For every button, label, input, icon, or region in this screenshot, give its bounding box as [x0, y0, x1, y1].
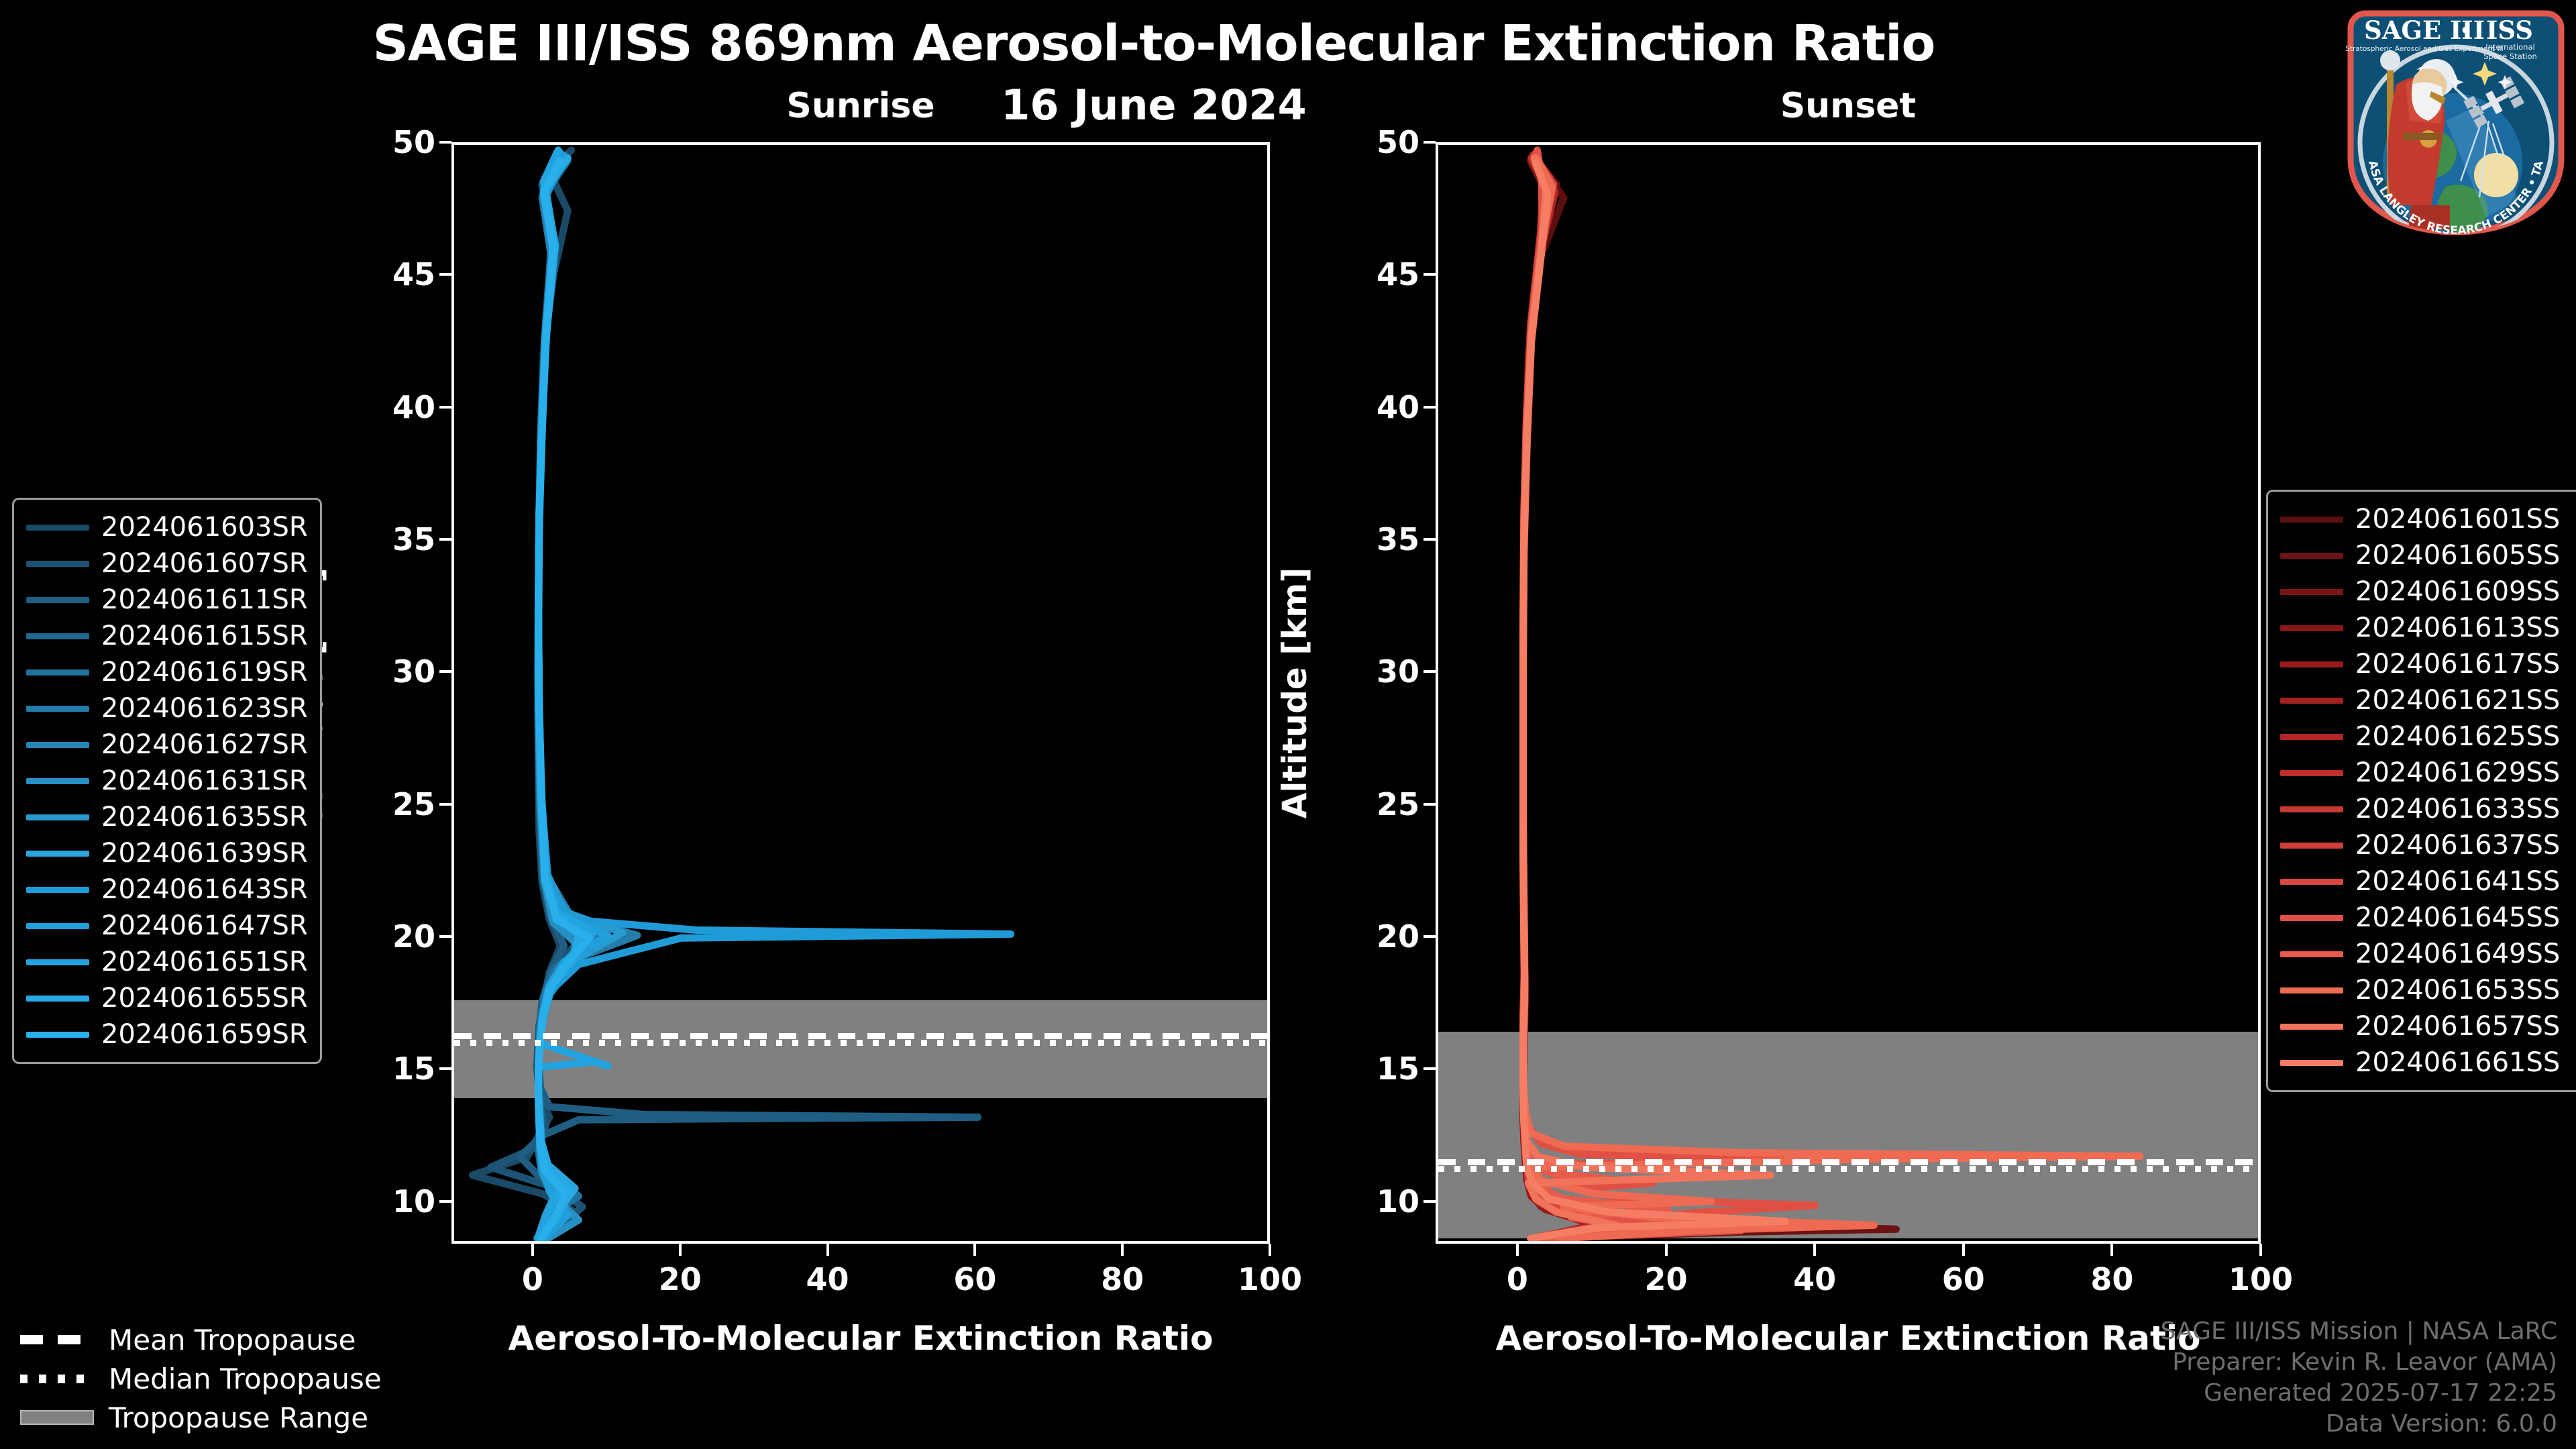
legend-event-label: 2024061645SS [2355, 902, 2560, 933]
legend-color-swatch [2280, 589, 2343, 595]
y-axis-tick-label: 45 [392, 256, 435, 292]
legend-event-label: 2024061651SR [101, 947, 308, 977]
legend-color-swatch [26, 633, 89, 639]
sunset-event-legend-item[interactable]: 2024061657SS [2280, 1008, 2575, 1044]
median-tropopause-dotted-line [20, 1371, 94, 1386]
series-line [1523, 163, 1631, 1238]
y-axis-tick-mark [1424, 670, 1436, 673]
legend-color-swatch [2280, 517, 2343, 523]
tropopause-range-band-swatch [20, 1410, 94, 1425]
sunrise-event-legend-item[interactable]: 2024061615SR [26, 618, 308, 654]
credits-line: SAGE III/ISS Mission | NASA LaRC [2161, 1316, 2557, 1347]
sunset-event-legend-item[interactable]: 2024061621SS [2280, 682, 2575, 718]
series-line [1523, 158, 2140, 1239]
credits-line: Preparer: Kevin R. Leavor (AMA) [2161, 1347, 2557, 1378]
x-axis-tick-label: 100 [1238, 1261, 1302, 1297]
sunset-y-axis-label: Altitude [km] [1275, 568, 1314, 819]
median-tropopause-line [1438, 1166, 2258, 1172]
sunset-event-legend[interactable]: 2024061601SS2024061605SS2024061609SS2024… [2266, 490, 2576, 1092]
y-axis-tick-label: 30 [1377, 653, 1419, 690]
legend-color-swatch [26, 814, 89, 820]
legend-color-swatch [26, 996, 89, 1002]
series-line [1523, 158, 1815, 1239]
legend-color-swatch [2280, 553, 2343, 559]
legend-event-label: 2024061601SS [2355, 504, 2560, 535]
y-axis-tick-mark [439, 1067, 451, 1070]
sage-iii-iss-mission-patch-logo: SAGE III • ISS Stratospheric Aerosol and… [2345, 5, 2567, 237]
y-axis-tick-mark [439, 273, 451, 276]
legend-color-swatch [26, 959, 89, 965]
mean-tropopause-dashed-line-swatch [20, 1335, 94, 1344]
series-line [1523, 161, 1727, 1239]
y-axis-tick-label: 30 [392, 653, 435, 690]
legend-color-swatch [2280, 843, 2343, 849]
y-axis-tick-label: 35 [392, 521, 435, 557]
legend-event-label: 2024061637SS [2355, 830, 2560, 861]
legend-event-label: 2024061627SR [101, 729, 308, 760]
legend-event-label: 2024061655SR [101, 983, 308, 1014]
legend-color-swatch [2280, 661, 2343, 667]
y-axis-tick-label: 15 [1377, 1051, 1419, 1087]
legend-color-swatch [2280, 951, 2343, 957]
y-axis-tick-mark [439, 538, 451, 541]
y-axis-tick-mark [1424, 1067, 1436, 1070]
sunrise-event-legend-item[interactable]: 2024061627SR [26, 727, 308, 763]
legend-event-label: 2024061603SR [101, 512, 308, 543]
legend-color-swatch [26, 1032, 89, 1038]
median-tropopause-line [454, 1040, 1267, 1046]
legend-event-label: 2024061639SR [101, 838, 308, 869]
legend-color-swatch [2280, 1024, 2343, 1030]
x-axis-tick-mark [826, 1244, 829, 1256]
x-axis-tick-label: 40 [1793, 1261, 1836, 1297]
sunset-event-legend-item[interactable]: 2024061609SS [2280, 574, 2575, 610]
y-axis-tick-label: 40 [1377, 389, 1419, 425]
median-tropopause-dotted-line-swatch [20, 1375, 94, 1383]
sunset-event-legend-item[interactable]: 2024061629SS [2280, 755, 2575, 791]
legend-color-swatch [2280, 625, 2343, 631]
legend-color-swatch [2280, 770, 2343, 776]
sunset-event-legend-item[interactable]: 2024061653SS [2280, 972, 2575, 1008]
series-line [1523, 158, 1653, 1239]
y-axis-tick-mark [1424, 538, 1436, 541]
x-axis-tick-label: 40 [806, 1261, 849, 1297]
sunrise-series-lines [454, 145, 1267, 1241]
y-axis-tick-label: 45 [1377, 256, 1419, 292]
sunset-event-legend-item[interactable]: 2024061637SS [2280, 827, 2575, 863]
sunrise-event-legend-item[interactable]: 2024061635SR [26, 799, 308, 835]
y-axis-tick-mark [1424, 273, 1436, 276]
tropopause-range-band [20, 1410, 94, 1425]
legend-color-swatch [26, 923, 89, 929]
sunrise-event-legend-item[interactable]: 2024061647SR [26, 908, 308, 944]
series-line [539, 158, 1011, 1239]
y-axis-tick-mark [1424, 406, 1436, 409]
legend-color-swatch [2280, 806, 2343, 812]
legend-event-label: 2024061617SS [2355, 649, 2560, 680]
logo-subtitle-right-1: International [2485, 42, 2534, 52]
legend-event-label: 2024061659SR [101, 1019, 308, 1050]
sunset-event-legend-item[interactable]: 2024061641SS [2280, 863, 2575, 900]
legend-event-label: 2024061657SS [2355, 1011, 2560, 1042]
legend-color-swatch [2280, 915, 2343, 921]
x-axis-tick-label: 80 [2090, 1261, 2133, 1297]
series-line [472, 150, 571, 1238]
legend-color-swatch [26, 597, 89, 603]
y-axis-tick-label: 25 [1377, 786, 1419, 822]
sunrise-plot-area [454, 145, 1267, 1241]
legend-event-label: 2024061611SR [101, 584, 308, 615]
legend-event-label: 2024061609SS [2355, 576, 2560, 607]
series-line [1523, 161, 1705, 1239]
x-axis-tick-label: 0 [522, 1261, 543, 1297]
x-axis-tick-mark [1121, 1244, 1124, 1256]
series-line [1523, 161, 1668, 1239]
y-axis-tick-mark [439, 1200, 451, 1203]
legend-event-label: 2024061661SS [2355, 1047, 2560, 1078]
credits-line: Data Version: 6.0.0 [2161, 1409, 2557, 1440]
x-axis-tick-mark [531, 1244, 534, 1256]
series-line [1523, 156, 1668, 1238]
sunset-event-legend-item[interactable]: 2024061649SS [2280, 936, 2575, 972]
series-line [539, 158, 637, 1236]
series-line [520, 153, 977, 1236]
y-axis-tick-label: 10 [1377, 1183, 1419, 1220]
legend-event-label: 2024061629SS [2355, 757, 2560, 788]
sunrise-event-legend-item[interactable]: 2024061659SR [26, 1016, 308, 1053]
sunrise-panel-title: Sunrise [451, 86, 1270, 126]
y-axis-tick-mark [1424, 1200, 1436, 1203]
y-axis-tick-mark [439, 406, 451, 409]
legend-event-label: 2024061607SR [101, 548, 308, 579]
legend-event-label: 2024061615SR [101, 621, 308, 651]
sunset-panel-title: Sunset [1436, 86, 2261, 126]
series-line [539, 161, 590, 1239]
tropopause-legend-label: Mean Tropopause [109, 1324, 356, 1356]
sunset-event-legend-item[interactable]: 2024061613SS [2280, 610, 2575, 646]
legend-event-label: 2024061621SS [2355, 685, 2560, 716]
x-axis-tick-mark [973, 1244, 976, 1256]
y-axis-tick-label: 20 [392, 918, 435, 955]
x-axis-tick-label: 0 [1507, 1261, 1528, 1297]
sunrise-event-legend-item[interactable]: 2024061651SR [26, 944, 308, 980]
legend-color-swatch [2280, 987, 2343, 994]
sunrise-event-legend-item[interactable]: 2024061655SR [26, 980, 308, 1016]
tropopause-legend: Mean TropopauseMedian TropopauseTropopau… [20, 1320, 382, 1437]
logo-dot: • [2459, 19, 2472, 43]
x-axis-tick-mark [1813, 1244, 1816, 1256]
sunset-x-axis-label: Aerosol-To-Molecular Extinction Ratio [1436, 1319, 2261, 1358]
credits-block: SAGE III/ISS Mission | NASA LaRCPreparer… [2161, 1316, 2557, 1440]
sunrise-plot-panel [451, 142, 1270, 1244]
sunrise-event-legend-item[interactable]: 2024061639SR [26, 835, 308, 871]
x-axis-tick-mark [679, 1244, 682, 1256]
sunrise-event-legend-item[interactable]: 2024061607SR [26, 545, 308, 582]
x-axis-tick-mark [1516, 1244, 1519, 1256]
sunrise-event-legend-item[interactable]: 2024061643SR [26, 871, 308, 908]
sunrise-event-legend-item[interactable]: 2024061631SR [26, 763, 308, 799]
sunset-series-lines [1438, 145, 2258, 1241]
legend-color-swatch [2280, 734, 2343, 740]
y-axis-tick-mark [439, 141, 451, 144]
sunrise-x-axis-label: Aerosol-To-Molecular Extinction Ratio [451, 1319, 1270, 1358]
y-axis-tick-mark [1424, 141, 1436, 144]
sunset-event-legend-item[interactable]: 2024061633SS [2280, 791, 2575, 827]
legend-event-label: 2024061643SR [101, 874, 308, 905]
y-axis-tick-label: 10 [392, 1183, 435, 1220]
series-line [1523, 163, 1786, 1238]
legend-event-label: 2024061605SS [2355, 540, 2560, 571]
sunset-plot-panel [1436, 142, 2261, 1244]
tropopause-legend-item: Tropopause Range [20, 1398, 382, 1437]
sunset-event-legend-item[interactable]: 2024061605SS [2280, 537, 2575, 574]
x-axis-tick-label: 60 [953, 1261, 996, 1297]
series-line [1523, 158, 1668, 1239]
legend-color-swatch [2280, 1060, 2343, 1066]
legend-event-label: 2024061613SS [2355, 612, 2560, 643]
legend-color-swatch [26, 851, 89, 857]
legend-color-swatch [2280, 879, 2343, 885]
x-axis-tick-mark [2110, 1244, 2113, 1256]
sunrise-event-legend-item[interactable]: 2024061619SR [26, 654, 308, 690]
series-line [1523, 158, 1778, 1239]
page-title: SAGE III/ISS 869nm Aerosol-to-Molecular … [0, 15, 2308, 72]
series-line [1523, 156, 1896, 1238]
legend-color-swatch [26, 887, 89, 893]
y-axis-tick-label: 35 [1377, 521, 1419, 557]
sunrise-event-legend-item[interactable]: 2024061603SR [26, 509, 308, 545]
legend-event-label: 2024061633SS [2355, 794, 2560, 824]
sunset-event-legend-item[interactable]: 2024061617SS [2280, 646, 2575, 682]
x-axis-tick-label: 60 [1942, 1261, 1985, 1297]
credits-line: Generated 2025-07-17 22:25 [2161, 1378, 2557, 1409]
tropopause-legend-item: Median Tropopause [20, 1359, 382, 1398]
mean-tropopause-dashed-line [20, 1332, 94, 1347]
legend-color-swatch [26, 706, 89, 712]
tropopause-legend-label: Median Tropopause [109, 1362, 382, 1395]
legend-color-swatch [26, 669, 89, 676]
tropopause-legend-label: Tropopause Range [109, 1401, 368, 1434]
legend-color-swatch [26, 561, 89, 567]
x-axis-tick-label: 20 [659, 1261, 702, 1297]
legend-event-label: 2024061619SR [101, 657, 308, 688]
legend-event-label: 2024061623SR [101, 693, 308, 724]
y-axis-tick-mark [1424, 935, 1436, 938]
legend-event-label: 2024061625SS [2355, 721, 2560, 752]
x-axis-tick-mark [1269, 1244, 1271, 1256]
tropopause-legend-item: Mean Tropopause [20, 1320, 382, 1359]
logo-subtitle-right-2: Space Station [2483, 52, 2537, 61]
sunrise-event-legend-item[interactable]: 2024061611SR [26, 582, 308, 618]
legend-color-swatch [26, 525, 89, 531]
y-axis-tick-label: 40 [392, 389, 435, 425]
y-axis-tick-label: 50 [1377, 124, 1419, 160]
sunset-event-legend-item[interactable]: 2024061601SS [2280, 501, 2575, 537]
y-axis-tick-label: 50 [392, 124, 435, 160]
legend-event-label: 2024061647SR [101, 910, 308, 941]
y-axis-tick-label: 25 [392, 786, 435, 822]
legend-event-label: 2024061635SR [101, 802, 308, 833]
x-axis-tick-mark [2259, 1244, 2262, 1256]
y-axis-tick-label: 15 [392, 1051, 435, 1087]
sunrise-event-legend-item[interactable]: 2024061623SR [26, 690, 308, 727]
legend-color-swatch [26, 742, 89, 748]
y-axis-tick-mark [439, 670, 451, 673]
mean-tropopause-line [1438, 1159, 2258, 1165]
legend-color-swatch [2280, 698, 2343, 704]
logo-subtitle-left: Stratospheric Aerosol and Gas Experiment… [2345, 45, 2504, 53]
legend-event-label: 2024061631SR [101, 765, 308, 796]
sunrise-event-legend[interactable]: 2024061603SR2024061607SR2024061611SR2024… [12, 498, 322, 1064]
legend-event-label: 2024061653SS [2355, 975, 2560, 1006]
x-axis-tick-mark [1962, 1244, 1965, 1256]
series-line [1523, 150, 1815, 1238]
y-axis-tick-mark [1424, 803, 1436, 806]
legend-color-swatch [26, 778, 89, 784]
y-axis-tick-label: 20 [1377, 918, 1419, 955]
sunset-plot-area [1438, 145, 2258, 1241]
y-axis-tick-mark [439, 803, 451, 806]
x-axis-tick-label: 100 [2229, 1261, 2293, 1297]
x-axis-tick-label: 80 [1101, 1261, 1144, 1297]
sunset-event-legend-item[interactable]: 2024061625SS [2280, 718, 2575, 755]
logo-title-right: ISS [2486, 15, 2533, 45]
mean-tropopause-line [454, 1033, 1267, 1039]
series-line [1523, 153, 1682, 1236]
legend-event-label: 2024061641SS [2355, 866, 2560, 897]
x-axis-tick-label: 20 [1644, 1261, 1687, 1297]
series-line [1523, 158, 1771, 1236]
x-axis-tick-mark [1665, 1244, 1668, 1256]
y-axis-tick-mark [439, 935, 451, 938]
legend-event-label: 2024061649SS [2355, 938, 2560, 969]
sunset-event-legend-item[interactable]: 2024061645SS [2280, 900, 2575, 936]
sunset-event-legend-item[interactable]: 2024061661SS [2280, 1044, 2575, 1081]
